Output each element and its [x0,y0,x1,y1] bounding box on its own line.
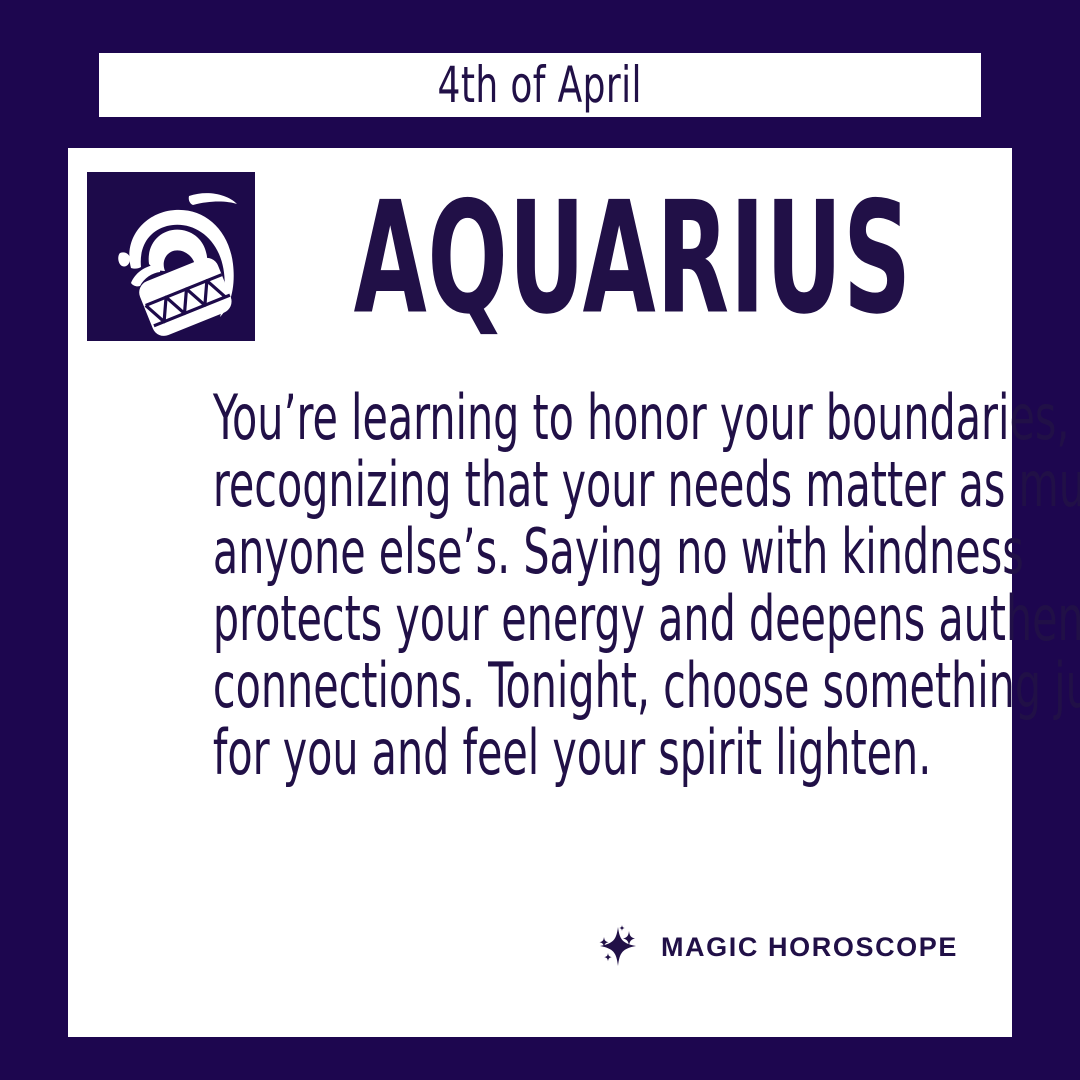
horoscope-line: anyone else’s. Saying no with kindness [213,518,867,585]
horoscope-line: for you and feel your spirit lighten. [213,719,867,786]
sparkle-star-icon [589,919,645,975]
brand-name: MAGIC HOROSCOPE [661,932,958,962]
sign-header-row: AQUARIUS [68,148,1012,363]
horoscope-card: AQUARIUS You’re learning to honor your b… [68,148,1012,1037]
zodiac-sign-title: AQUARIUS [268,174,998,344]
horoscope-text-block: You’re learning to honor your boundaries… [98,384,982,786]
aquarius-water-bearer-icon [87,172,255,341]
date-text: 4th of April [438,59,642,111]
horoscope-line: connections. Tonight, choose something j… [213,652,867,719]
horoscope-line: recognizing that your needs matter as mu… [213,451,867,518]
horoscope-card-canvas: 4th of April [0,0,1080,1080]
horoscope-line: protects your energy and deepens authent… [213,585,867,652]
brand-logo: MAGIC HOROSCOPE [589,919,958,975]
horoscope-line: You’re learning to honor your boundaries… [213,384,867,451]
zodiac-sign-name: AQUARIUS [354,182,912,337]
date-banner: 4th of April [99,53,981,117]
